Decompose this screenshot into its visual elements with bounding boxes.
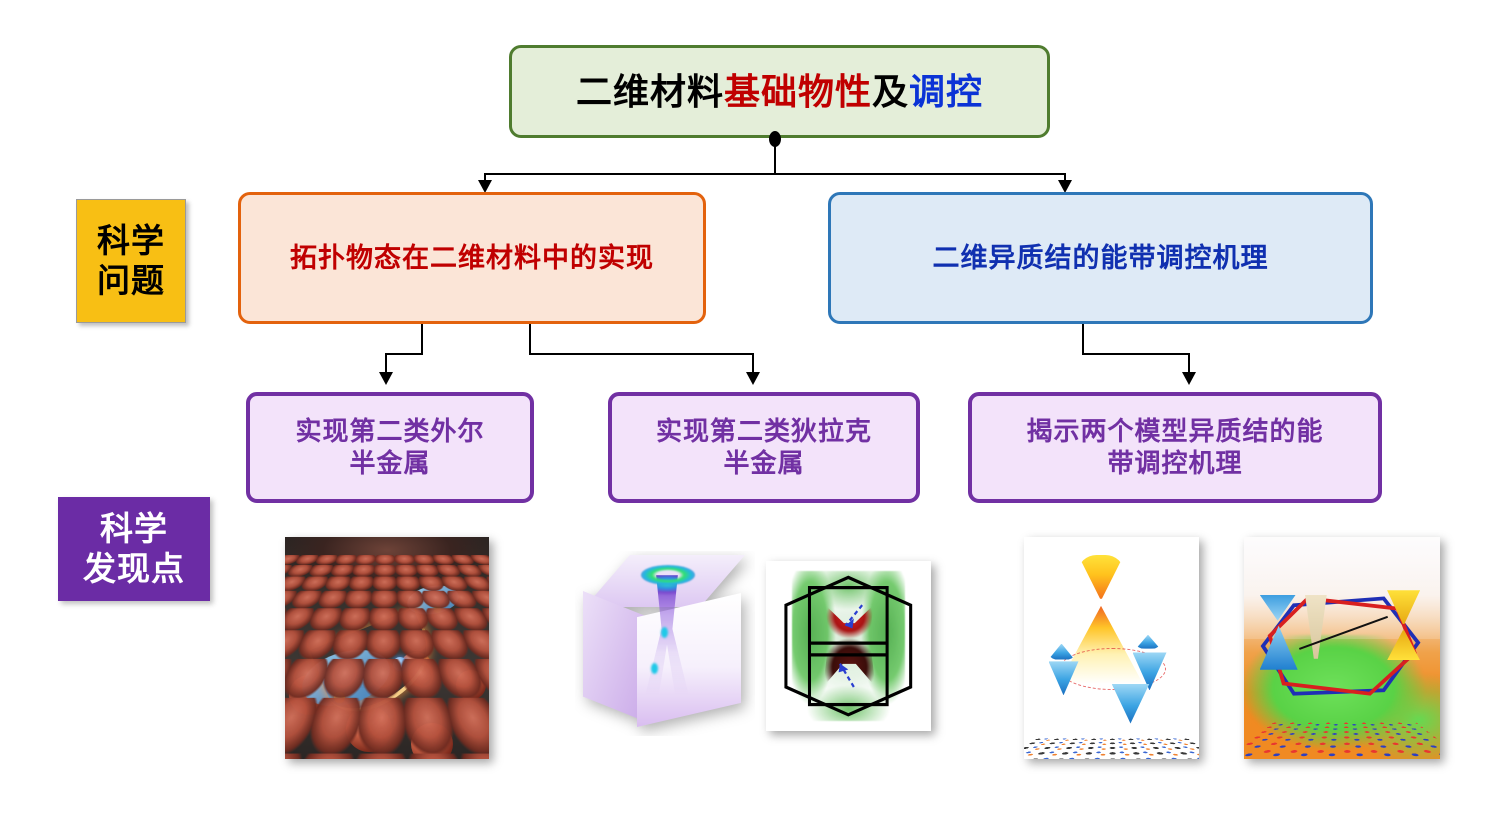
connector-title-horizontal bbox=[484, 173, 1065, 175]
label-finding-line1: 科学 bbox=[100, 509, 168, 549]
fig2-hotspot bbox=[651, 663, 658, 674]
finding-2-line2: 半金属 bbox=[656, 448, 872, 480]
arrow-to-finding-3 bbox=[1182, 372, 1196, 385]
connector-q1-left-vertical bbox=[421, 324, 423, 354]
label-finding-line2: 发现点 bbox=[83, 549, 185, 589]
figure-arpes-spectrum-cube bbox=[575, 551, 755, 736]
fig3-brillouin-zone-outline bbox=[779, 573, 918, 719]
diagram-canvas: 二维材料基础物性及调控 科学 问题 科学 发现点 拓扑物态在二维材料中的实现 二… bbox=[0, 0, 1496, 822]
fig2-hotspot bbox=[661, 627, 668, 638]
figure-fermi-surface-brillouin-zone bbox=[766, 561, 931, 731]
fig2-cube-front-face bbox=[637, 593, 741, 727]
arrow-to-finding-1 bbox=[379, 372, 393, 385]
finding-3-line1: 揭示两个模型异质结的能 bbox=[1026, 416, 1323, 448]
title-segment-3: 及 bbox=[872, 70, 909, 114]
fig1-node-green bbox=[434, 606, 441, 613]
label-scientific-question: 科学 问题 bbox=[76, 199, 186, 323]
title-box: 二维材料基础物性及调控 bbox=[509, 45, 1050, 138]
connector-q2-vertical bbox=[1082, 324, 1084, 354]
fig1-node-blue bbox=[393, 657, 407, 671]
fig1-sphere bbox=[411, 723, 453, 759]
title-segment-1: 二维材料 bbox=[576, 70, 724, 114]
question-box-2-text: 二维异质结的能带调控机理 bbox=[933, 242, 1269, 275]
arrow-to-finding-2 bbox=[746, 372, 760, 385]
figure-dirac-cones-on-lattice bbox=[1024, 537, 1199, 759]
title-segment-4: 调控 bbox=[909, 70, 983, 114]
connector-q2-horizontal bbox=[1082, 353, 1190, 355]
question-box-topological-states[interactable]: 拓扑物态在二维材料中的实现 bbox=[238, 192, 706, 324]
figure-moire-heterojunction-cones bbox=[1244, 537, 1440, 759]
finding-1-line1: 实现第二类外尔 bbox=[295, 416, 484, 448]
connector-q1-right-horizontal bbox=[529, 353, 754, 355]
connector-q1-right-vertical bbox=[529, 324, 531, 354]
finding-2-line1: 实现第二类狄拉克 bbox=[656, 416, 872, 448]
question-box-heterojunction-bands[interactable]: 二维异质结的能带调控机理 bbox=[828, 192, 1373, 324]
label-question-line1: 科学 bbox=[97, 221, 165, 261]
connector-q1-left-horizontal bbox=[385, 353, 423, 355]
fig2-fermi-ring bbox=[641, 565, 695, 585]
finding-box-type-ii-weyl[interactable]: 实现第二类外尔 半金属 bbox=[246, 392, 534, 503]
fig4-atom-lattice bbox=[1024, 738, 1199, 759]
title-segment-2: 基础物性 bbox=[724, 70, 872, 114]
question-box-1-text: 拓扑物态在二维材料中的实现 bbox=[290, 242, 654, 275]
label-question-line2: 问题 bbox=[97, 261, 165, 301]
finding-3-line2: 带调控机理 bbox=[1026, 448, 1323, 480]
connector-title-vertical bbox=[774, 142, 776, 174]
figure-weyl-semimetal-render bbox=[285, 537, 489, 759]
finding-1-line2: 半金属 bbox=[295, 448, 484, 480]
finding-box-heterojunction-mechanism[interactable]: 揭示两个模型异质结的能 带调控机理 bbox=[968, 392, 1382, 503]
label-scientific-finding: 科学 发现点 bbox=[58, 497, 210, 601]
finding-box-type-ii-dirac[interactable]: 实现第二类狄拉克 半金属 bbox=[608, 392, 920, 503]
